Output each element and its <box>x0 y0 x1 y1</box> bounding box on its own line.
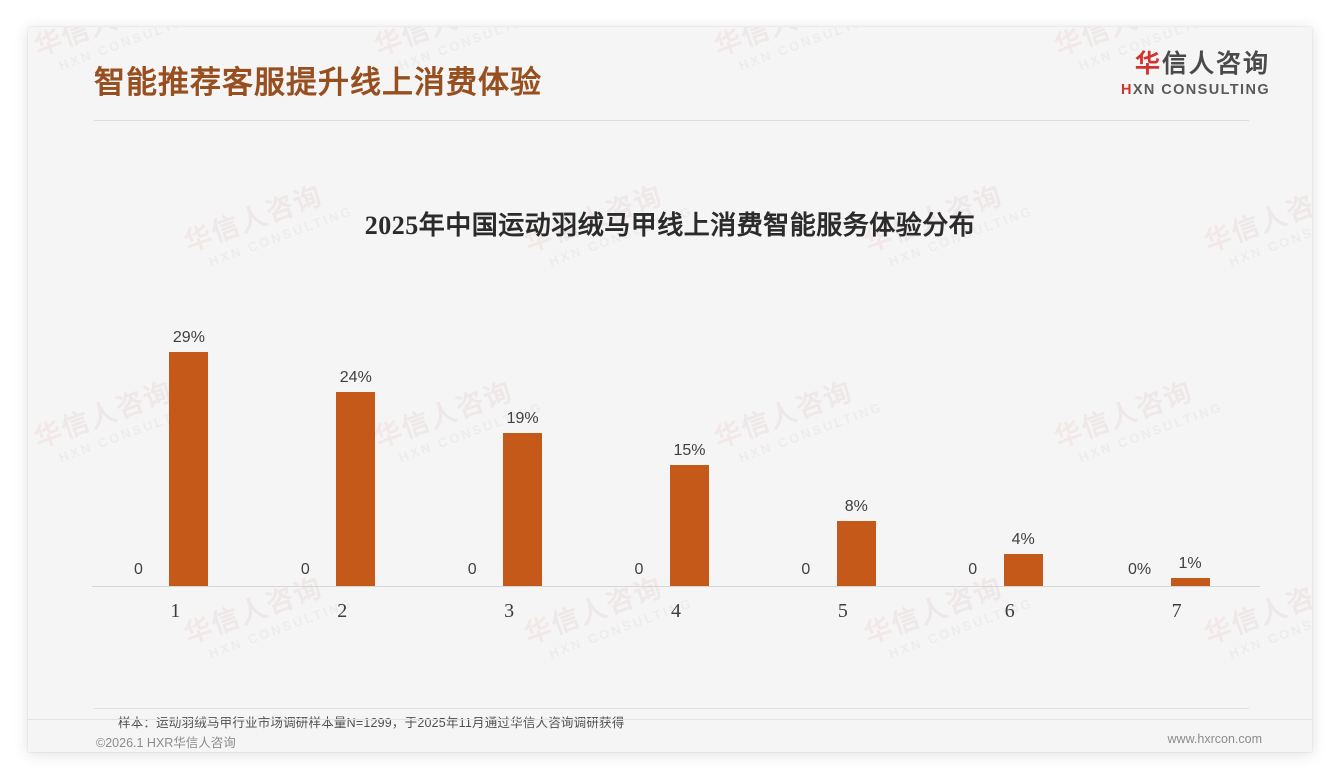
slide-header: 智能推荐客服提升线上消费体验 华信人咨询 HXN CONSULTING <box>28 27 1312 120</box>
x-axis-tick-label: 6 <box>970 600 1050 623</box>
website-text: www.hxrcon.com <box>1168 732 1262 746</box>
footnote-top-divider <box>94 708 1249 709</box>
header-divider <box>94 120 1249 121</box>
bar-chart-plot-area: 029%1024%2019%3015%408%504%60%1%7 <box>72 257 1268 587</box>
brand-logo: 华信人咨询 HXN CONSULTING <box>1121 51 1270 98</box>
bar-value-label-zero: 0 <box>619 561 659 579</box>
bar-value-label-zero: 0% <box>1120 561 1160 579</box>
bar-value-label: 4% <box>989 531 1058 549</box>
x-axis-tick-label: 1 <box>135 600 215 623</box>
x-axis-tick-label: 5 <box>803 600 883 623</box>
bar-value-label: 8% <box>822 498 891 516</box>
logo-cn-red-char: 华 <box>1135 51 1162 78</box>
copyright-text: ©2026.1 HXR华信人咨询 <box>96 732 236 751</box>
logo-chinese-text: 华信人咨询 <box>1121 51 1270 79</box>
bar <box>503 433 542 586</box>
bar-value-label: 29% <box>154 329 223 347</box>
x-axis-tick-label: 2 <box>302 600 382 623</box>
bar <box>169 352 208 586</box>
logo-english-text: HXN CONSULTING <box>1121 82 1270 98</box>
bar <box>1171 578 1210 586</box>
slide-canvas: 华信人咨询HXN CONSULTING华信人咨询HXN CONSULTING华信… <box>28 27 1312 752</box>
bar-value-label: 15% <box>655 442 724 460</box>
chart-title: 2025年中国运动羽绒马甲线上消费智能服务体验分布 <box>28 205 1312 242</box>
bar <box>670 465 709 586</box>
bar-value-label-zero: 0 <box>786 561 826 579</box>
footer-divider <box>28 719 1312 720</box>
bar-value-label: 19% <box>488 410 557 428</box>
bar-value-label: 1% <box>1156 555 1225 573</box>
page-title: 智能推荐客服提升线上消费体验 <box>94 57 542 102</box>
slide-footer: ©2026.1 HXR华信人咨询 www.hxrcon.com <box>28 719 1312 752</box>
bar-value-label: 24% <box>321 369 390 387</box>
bar <box>336 392 375 586</box>
x-axis-tick-label: 3 <box>469 600 549 623</box>
bar-value-label-zero: 0 <box>452 561 492 579</box>
logo-cn-rest: 信人咨询 <box>1162 51 1270 78</box>
x-axis-tick-label: 4 <box>636 600 716 623</box>
logo-en-red-char: H <box>1121 82 1133 98</box>
bar-value-label-zero: 0 <box>285 561 325 579</box>
bar <box>1004 554 1043 586</box>
bar-value-label-zero: 0 <box>118 561 158 579</box>
bar <box>837 521 876 586</box>
x-axis-line <box>92 586 1260 587</box>
bar-value-label-zero: 0 <box>953 561 993 579</box>
logo-en-rest: XN CONSULTING <box>1133 82 1270 98</box>
x-axis-tick-label: 7 <box>1137 600 1217 623</box>
